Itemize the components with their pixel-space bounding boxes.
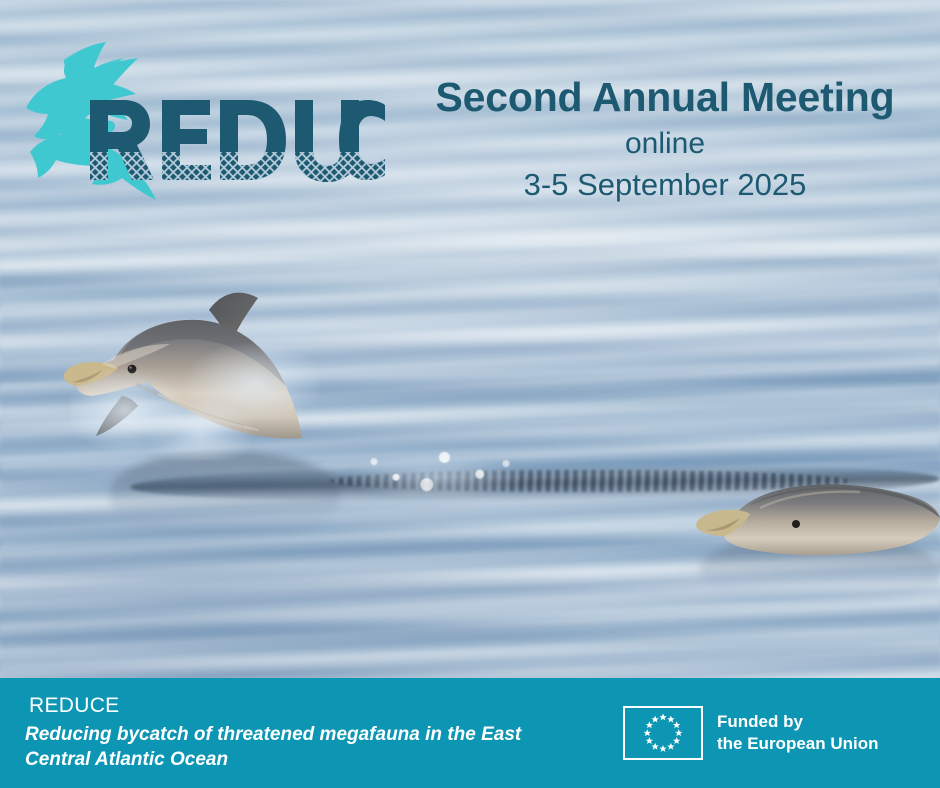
dolphin-left bbox=[62, 268, 362, 478]
project-tagline-line1: Reducing bycatch of threatened megafauna… bbox=[25, 722, 615, 747]
water-splash bbox=[330, 440, 550, 502]
eu-funding-label: Funded by the European Union bbox=[717, 711, 879, 755]
heading-block: Second Annual Meeting online 3-5 Septemb… bbox=[400, 76, 930, 202]
project-info: REDUCE Reducing bycatch of threatened me… bbox=[0, 694, 615, 772]
eu-funding-line2: the European Union bbox=[717, 733, 879, 755]
dolphin-right bbox=[688, 462, 940, 570]
eu-funding-block: Funded by the European Union bbox=[623, 706, 879, 760]
project-name: REDUCE bbox=[25, 694, 615, 718]
bottom-banner: REDUCE Reducing bycatch of threatened me… bbox=[0, 678, 940, 788]
eu-flag-icon bbox=[623, 706, 703, 760]
meeting-title: Second Annual Meeting bbox=[400, 76, 930, 119]
meeting-mode: online bbox=[400, 128, 930, 160]
eu-funding-line1: Funded by bbox=[717, 711, 879, 733]
reduce-logo bbox=[8, 34, 400, 204]
project-tagline-line2: Central Atlantic Ocean bbox=[25, 747, 615, 772]
meeting-dates: 3-5 September 2025 bbox=[400, 169, 930, 202]
project-tagline: Reducing bycatch of threatened megafauna… bbox=[25, 722, 615, 772]
reduce-wordmark bbox=[86, 94, 396, 186]
poster-root: Second Annual Meeting online 3-5 Septemb… bbox=[0, 0, 940, 788]
